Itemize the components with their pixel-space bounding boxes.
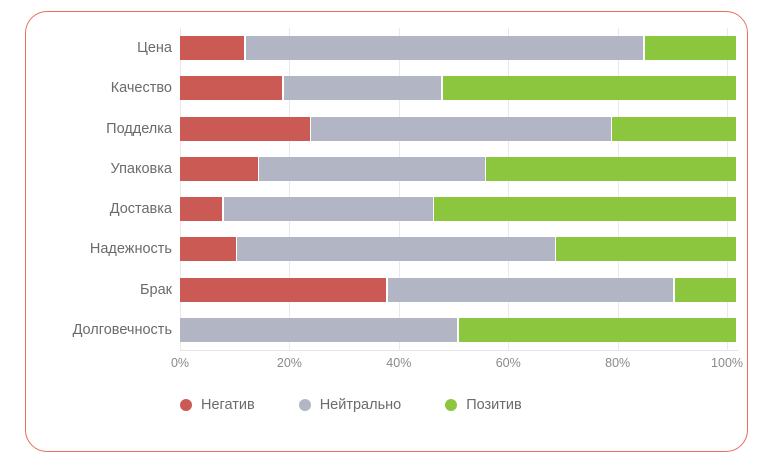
bar-row[interactable] (180, 189, 738, 229)
category-label: Упаковка (30, 149, 172, 189)
legend-item[interactable]: Нейтрально (299, 397, 402, 413)
bar-segment-1[interactable] (246, 36, 644, 60)
x-tick-label: 40% (386, 356, 411, 370)
bar-segment-2[interactable] (443, 76, 737, 100)
bar-segment-0[interactable] (180, 197, 222, 221)
bar-segment-2[interactable] (645, 36, 736, 60)
category-label: Надежность (30, 229, 172, 269)
x-tick-label: 80% (605, 356, 630, 370)
category-label: Доставка (30, 189, 172, 229)
bar-row[interactable] (180, 28, 738, 68)
category-axis-labels: ЦенаКачествоПодделкаУпаковкаДоставкаНаде… (30, 28, 172, 350)
x-tick-label: 20% (277, 356, 302, 370)
x-tick-label: 0% (171, 356, 189, 370)
bar-segment-0[interactable] (180, 237, 236, 261)
bar-row[interactable] (180, 229, 738, 269)
bar-segment-1[interactable] (388, 278, 674, 302)
bar-track (180, 278, 738, 302)
bar-segment-0[interactable] (180, 157, 258, 181)
category-label: Качество (30, 68, 172, 108)
bar-track (180, 318, 738, 342)
legend-item[interactable]: Позитив (445, 397, 522, 413)
category-label: Цена (30, 28, 172, 68)
bar-segment-2[interactable] (486, 157, 736, 181)
bar-segment-2[interactable] (459, 318, 736, 342)
x-axis-tick-labels: 0%20%40%60%80%100% (180, 356, 738, 376)
bar-segment-1[interactable] (224, 197, 433, 221)
chart-legend: НегативНейтральноПозитив (180, 392, 738, 418)
legend-swatch-icon (180, 399, 192, 411)
category-label: Долговечность (30, 310, 172, 350)
bar-rows (180, 28, 738, 350)
bar-track (180, 197, 738, 221)
legend-label: Нейтрально (320, 397, 402, 413)
bar-segment-1[interactable] (284, 76, 441, 100)
bar-track (180, 157, 738, 181)
bar-row[interactable] (180, 149, 738, 189)
bar-row[interactable] (180, 68, 738, 108)
legend-swatch-icon (299, 399, 311, 411)
bar-row[interactable] (180, 270, 738, 310)
bar-row[interactable] (180, 310, 738, 350)
legend-label: Позитив (466, 397, 522, 413)
plot-area (180, 28, 738, 350)
legend-swatch-icon (445, 399, 457, 411)
bar-row[interactable] (180, 109, 738, 149)
legend-label: Негатив (201, 397, 255, 413)
bar-segment-1[interactable] (237, 237, 554, 261)
stacked-bar-chart: ЦенаКачествоПодделкаУпаковкаДоставкаНаде… (0, 0, 775, 468)
bar-segment-2[interactable] (434, 197, 736, 221)
category-label: Брак (30, 270, 172, 310)
bar-segment-0[interactable] (180, 36, 244, 60)
bar-segment-2[interactable] (612, 117, 736, 141)
x-tick-label: 60% (496, 356, 521, 370)
bar-segment-2[interactable] (675, 278, 736, 302)
screenshot-root: ЦенаКачествоПодделкаУпаковкаДоставкаНаде… (0, 0, 775, 468)
bar-track (180, 237, 738, 261)
legend-item[interactable]: Негатив (180, 397, 255, 413)
bar-track (180, 117, 738, 141)
bar-segment-0[interactable] (180, 76, 282, 100)
x-tick-label: 100% (711, 356, 743, 370)
bar-track (180, 76, 738, 100)
bar-segment-1[interactable] (180, 318, 457, 342)
bar-segment-1[interactable] (259, 157, 484, 181)
category-label: Подделка (30, 109, 172, 149)
bar-track (180, 36, 738, 60)
bar-segment-0[interactable] (180, 117, 310, 141)
bar-segment-0[interactable] (180, 278, 386, 302)
bar-segment-1[interactable] (311, 117, 610, 141)
x-axis-line (180, 350, 738, 351)
bar-segment-2[interactable] (556, 237, 736, 261)
